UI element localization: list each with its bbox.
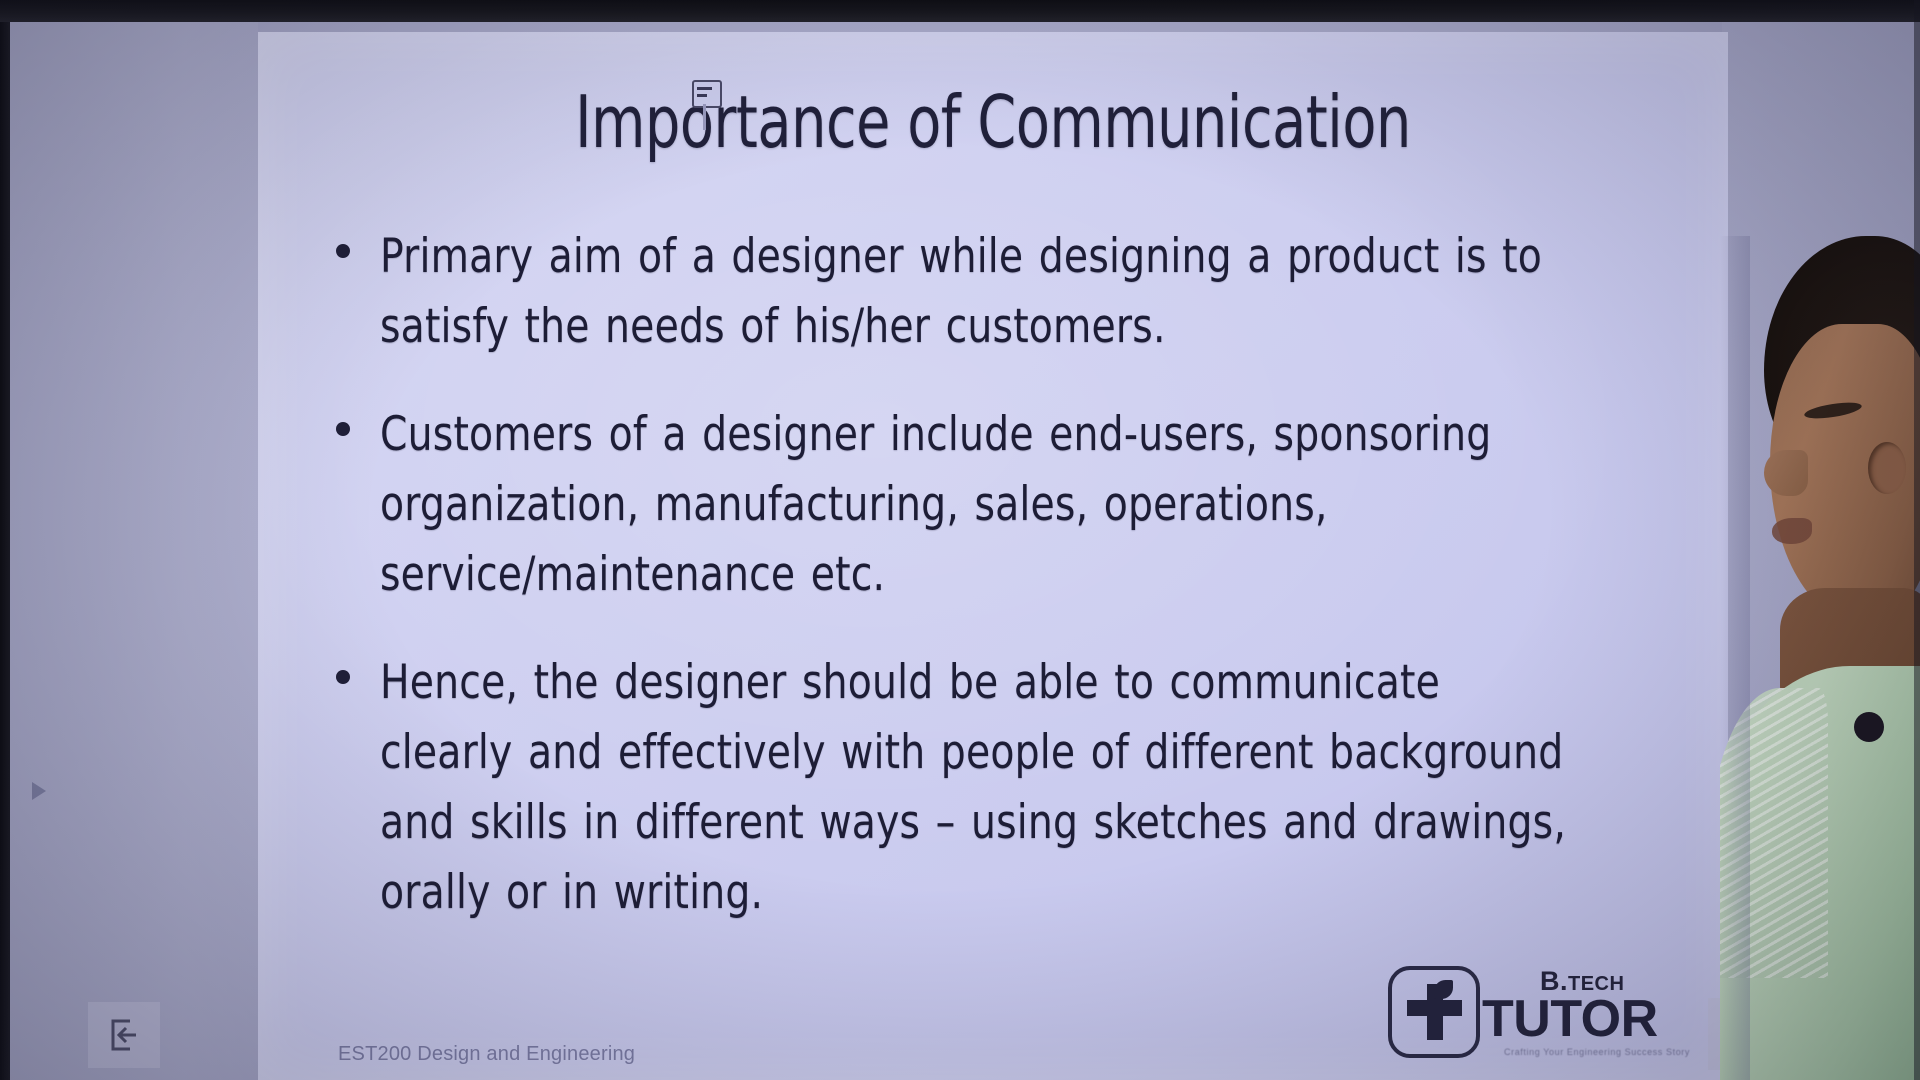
list-item: Customers of a designer include end-user…	[336, 400, 1666, 610]
bullet-dot-icon	[336, 422, 350, 436]
slide-footer-text: EST200 Design and Engineering	[338, 1043, 635, 1066]
bullet-text: Primary aim of a designer while designin…	[380, 222, 1576, 362]
bullet-dot-icon	[336, 244, 350, 258]
projected-slide-photo: Importance of Communication Primary aim …	[0, 0, 1920, 1080]
btech-tutor-logo: B.TECH TUTOR Crafting Your Engineering S…	[1388, 966, 1690, 1058]
logo-wordmark: B.TECH TUTOR Crafting Your Engineering S…	[1482, 968, 1690, 1057]
person-lips	[1772, 518, 1812, 544]
exit-button[interactable]	[88, 1002, 160, 1068]
monitor-bezel-top	[0, 0, 1920, 24]
page-title: Importance of Communication	[361, 80, 1625, 164]
person-ear	[1868, 442, 1906, 494]
bullet-text: Customers of a designer include end-user…	[380, 400, 1576, 610]
bullet-list: Primary aim of a designer while designin…	[336, 222, 1666, 966]
monitor-bezel-right	[1914, 0, 1920, 1080]
exit-icon	[106, 1018, 142, 1052]
logo-main-text: TUTOR	[1482, 993, 1690, 1045]
text-cursor-icon	[692, 80, 720, 106]
list-item: Hence, the designer should be able to co…	[336, 648, 1666, 928]
presenter-person	[1720, 236, 1920, 1080]
play-triangle-icon[interactable]	[32, 782, 46, 800]
list-item: Primary aim of a designer while designin…	[336, 222, 1666, 362]
logo-tagline: Crafting Your Engineering Success Story	[1504, 1048, 1690, 1057]
person-clothing-button	[1854, 712, 1884, 742]
person-nose	[1764, 450, 1808, 496]
presentation-slide: Importance of Communication Primary aim …	[258, 32, 1728, 1080]
projection-screen: Importance of Communication Primary aim …	[10, 22, 1920, 1080]
bullet-dot-icon	[336, 670, 350, 684]
logo-t-mark-icon	[1388, 966, 1480, 1058]
bullet-text: Hence, the designer should be able to co…	[380, 648, 1576, 928]
person-edge-shadow	[1720, 236, 1750, 1080]
wall-light-band-left	[10, 22, 258, 1080]
